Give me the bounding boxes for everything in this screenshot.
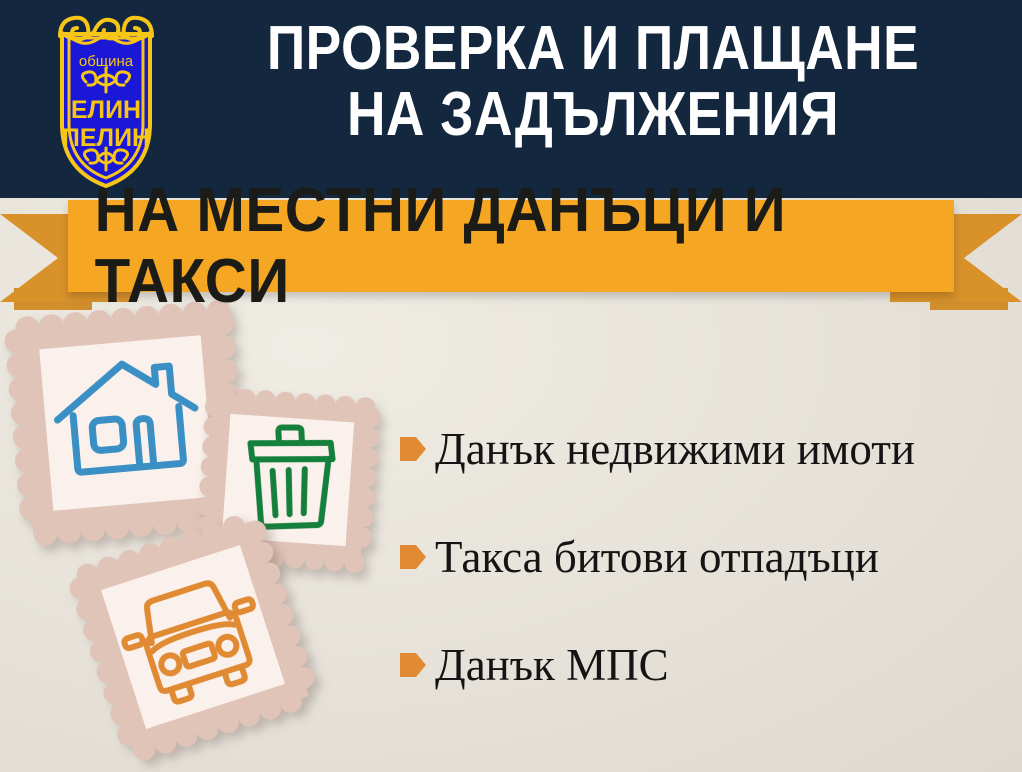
coat-of-arms-icon: община ЕЛИН ПЕЛИН bbox=[26, 6, 186, 190]
arrow-bullet-icon bbox=[400, 650, 426, 680]
list-item[interactable]: Такса битови отпадъци bbox=[400, 528, 1020, 586]
list-item[interactable]: Данък недвижими имоти bbox=[400, 420, 1020, 478]
arrow-bullet-icon bbox=[400, 434, 426, 464]
list-item-label: Данък МПС bbox=[435, 639, 669, 691]
list-item-label: Данък недвижими имоти bbox=[435, 423, 915, 475]
list-item[interactable]: Данък МПС bbox=[400, 636, 1020, 694]
ribbon-label: НА МЕСТНИ ДАНЪЦИ И ТАКСИ bbox=[95, 200, 928, 292]
ribbon-banner: НА МЕСТНИ ДАНЪЦИ И ТАКСИ bbox=[0, 198, 1022, 310]
list-item-label: Такса битови отпадъци bbox=[435, 531, 879, 583]
banner-root: ПРОВЕРКА И ПЛАЩАНЕ НА ЗАДЪЛЖЕНИЯ община bbox=[0, 0, 1022, 772]
page-title: ПРОВЕРКА И ПЛАЩАНЕ НА ЗАДЪЛЖЕНИЯ bbox=[236, 16, 950, 148]
crest-line2: ЕЛИН bbox=[71, 96, 141, 124]
arrow-bullet-icon bbox=[400, 542, 426, 572]
stamp-group bbox=[0, 300, 430, 770]
ribbon-panel: НА МЕСТНИ ДАНЪЦИ И ТАКСИ bbox=[68, 200, 954, 292]
tax-type-list: Данък недвижими имоти Такса битови отпад… bbox=[400, 420, 1020, 744]
